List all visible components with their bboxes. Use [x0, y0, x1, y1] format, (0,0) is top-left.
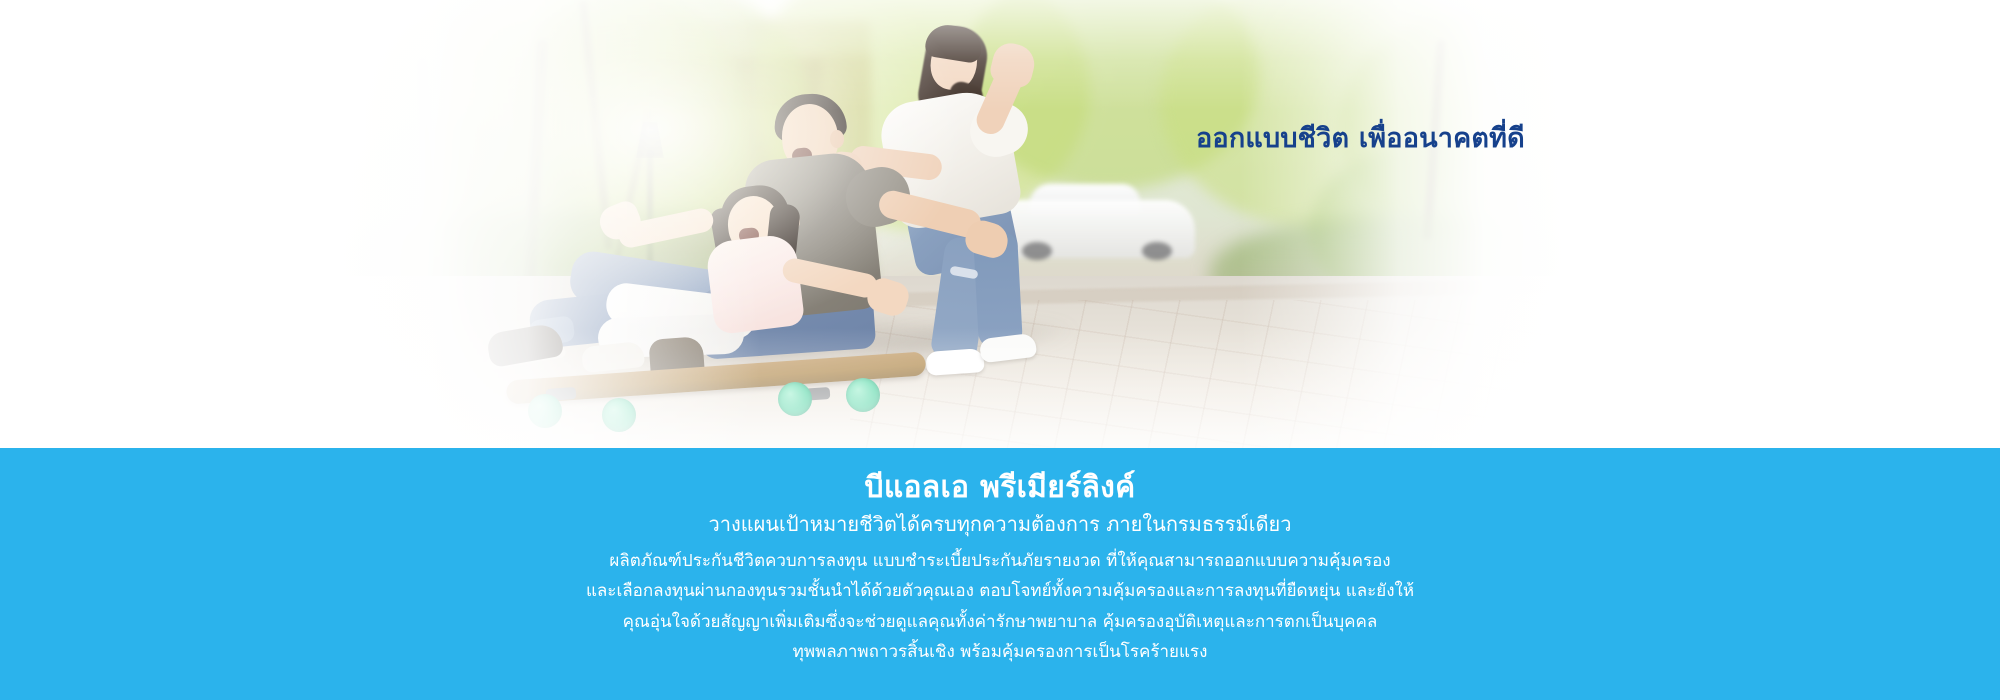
- description-line: และเลือกลงทุนผ่านกองทุนรวมชั้นนำได้ด้วยต…: [420, 576, 1580, 606]
- father-ear: [830, 130, 844, 148]
- description-line: คุณอุ่นใจด้วยสัญญาเพิ่มเติมซึ่งจะช่วยดูแ…: [420, 607, 1580, 637]
- car-wheel: [1142, 242, 1172, 260]
- description-line: ทุพพลภาพถาวรสิ้นเชิง พร้อมคุ้มครองการเป็…: [420, 637, 1580, 667]
- hero-photo: [330, 0, 1570, 448]
- car-wheel: [1022, 242, 1052, 260]
- product-description: ผลิตภัณฑ์ประกันชีวิตควบการลงทุน แบบชำระเ…: [420, 546, 1580, 667]
- skateboard-wheel: [602, 398, 636, 432]
- daughter-torso: [705, 233, 806, 335]
- mother-shoe: [925, 348, 985, 376]
- product-subtitle: วางแผนเป้าหมายชีวิตได้ครบทุกความต้องการ …: [0, 512, 2000, 537]
- product-title: บีแอลเอ พรีเมียร์ลิงค์: [0, 470, 2000, 506]
- hero-section: ออกแบบชีวิต เพื่ออนาคตที่ดี: [0, 0, 2000, 448]
- description-line: ผลิตภัณฑ์ประกันชีวิตควบการลงทุน แบบชำระเ…: [420, 546, 1580, 576]
- skateboard-wheel: [846, 378, 880, 412]
- promo-banner: ออกแบบชีวิต เพื่ออนาคตที่ดี บีแอลเอ พรีเ…: [0, 0, 2000, 700]
- skateboard-wheel: [778, 382, 812, 416]
- product-info-panel: บีแอลเอ พรีเมียร์ลิงค์ วางแผนเป้าหมายชีว…: [0, 448, 2000, 700]
- skateboard-wheel: [528, 394, 562, 428]
- hero-headline: ออกแบบชีวิต เพื่ออนาคตที่ดี: [1196, 122, 1525, 156]
